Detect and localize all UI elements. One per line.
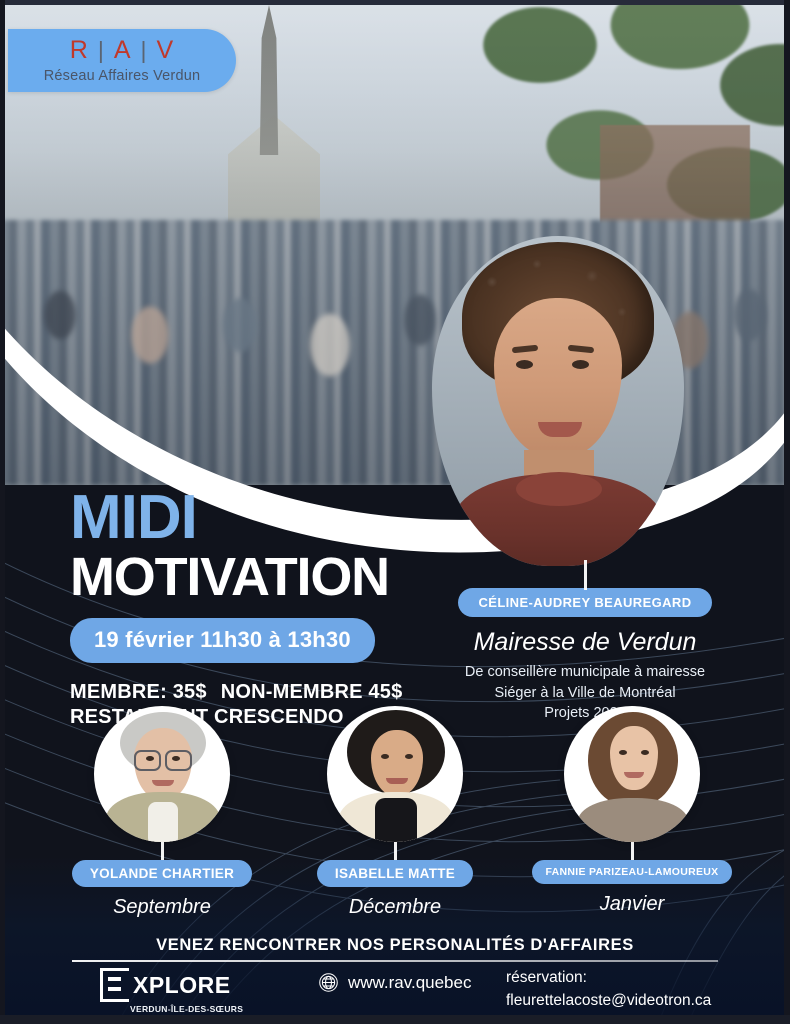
rav-tagline: Réseau Affaires Verdun xyxy=(44,68,201,84)
speaker-photo-isabelle xyxy=(327,706,463,842)
topic-line-1: De conseillère municipale à mairesse xyxy=(420,662,750,683)
featured-speaker-photo xyxy=(432,236,684,566)
featured-speaker-role: Mairesse de Verdun xyxy=(420,628,750,657)
speaker-stem xyxy=(161,842,164,860)
explore-logo[interactable]: XPLORE VERDUN-ÎLE-DES-SŒURS ExploreVerdu… xyxy=(100,968,275,1024)
rav-letter-r: R xyxy=(61,38,98,63)
event-date-pill: 19 février 11h30 à 13h30 xyxy=(70,618,375,663)
website-url: www.rav.quebec xyxy=(348,973,471,993)
featured-speaker-info: CÉLINE-AUDREY BEAUREGARD Mairesse de Ver… xyxy=(420,560,750,724)
rav-letter-a: A xyxy=(105,38,141,63)
title-line-midi: MIDI xyxy=(70,488,402,548)
rav-logo-letters: R | A | V xyxy=(61,38,183,63)
website-link[interactable]: www.rav.quebec xyxy=(318,972,471,993)
rav-separator-2: | xyxy=(141,39,148,62)
title-line-motivation: MOTIVATION xyxy=(70,550,402,604)
portrait-collar xyxy=(516,472,602,506)
speaker-name-isabelle: ISABELLE MATTE xyxy=(317,860,473,887)
reservation-label: réservation: xyxy=(506,966,711,989)
rav-separator-1: | xyxy=(98,39,105,62)
speaker-photo-fannie xyxy=(564,706,700,842)
speaker-inner-top xyxy=(375,798,417,842)
speaker-stem xyxy=(631,842,634,860)
speaker-name-yolande: YOLANDE CHARTIER xyxy=(72,860,252,887)
speaker-mouth xyxy=(386,778,408,784)
poster-canvas: R | A | V Réseau Affaires Verdun MIDI MO… xyxy=(0,0,790,1024)
topic-line-2: Siéger à la Ville de Montréal xyxy=(420,683,750,704)
speaker-card-fannie: FANNIE PARIZEAU-LAMOUREUX Janvier xyxy=(512,706,752,916)
speaker-card-yolande: YOLANDE CHARTIER Septembre xyxy=(42,706,282,919)
footer-divider xyxy=(72,960,718,962)
explore-e-mark-icon xyxy=(100,968,129,1002)
explore-logo-row: XPLORE xyxy=(100,968,275,1002)
speaker-eye-right xyxy=(405,754,413,759)
explore-wordmark: XPLORE xyxy=(133,974,231,997)
speaker-glasses-icon xyxy=(134,750,192,767)
speaker-stem xyxy=(394,842,397,860)
speaker-month-isabelle: Décembre xyxy=(275,896,515,919)
explore-subtitle: VERDUN-ÎLE-DES-SŒURS xyxy=(130,1004,275,1014)
speaker-eye-left xyxy=(619,750,627,755)
speaker-name-fannie: FANNIE PARIZEAU-LAMOUREUX xyxy=(532,860,733,884)
event-title-block: MIDI MOTIVATION 19 février 11h30 à 13h30… xyxy=(70,488,402,731)
explore-url: ExploreVerdunIDS.com xyxy=(100,1018,275,1024)
rav-logo[interactable]: R | A | V Réseau Affaires Verdun xyxy=(8,29,236,92)
reservation-block: réservation: fleurettelacoste@videotron.… xyxy=(506,966,711,1013)
globe-icon xyxy=(318,972,339,993)
speaker-eye-right xyxy=(641,750,649,755)
portrait-eye-left xyxy=(516,360,533,369)
price-non-member: NON-MEMBRE 45$ xyxy=(221,681,403,703)
featured-speaker-stem xyxy=(584,560,587,590)
speaker-eye-left xyxy=(381,754,389,759)
speaker-card-isabelle: ISABELLE MATTE Décembre xyxy=(275,706,515,919)
footer-headline: VENEZ RENCONTRER NOS PERSONALITÉS D'AFFA… xyxy=(0,936,790,955)
speakers-row: YOLANDE CHARTIER Septembre ISABELLE MATT… xyxy=(0,706,790,936)
featured-speaker-portrait xyxy=(432,236,684,566)
price-member: MEMBRE: 35$ xyxy=(70,681,207,703)
featured-speaker-name-pill: CÉLINE-AUDREY BEAUREGARD xyxy=(458,588,711,617)
reservation-email[interactable]: fleurettelacoste@videotron.ca xyxy=(506,989,711,1012)
speaker-month-fannie: Janvier xyxy=(512,893,752,916)
rav-letter-v: V xyxy=(148,38,184,63)
portrait-eye-right xyxy=(572,360,589,369)
speaker-month-yolande: Septembre xyxy=(42,896,282,919)
footer-bar: XPLORE VERDUN-ÎLE-DES-SŒURS ExploreVerdu… xyxy=(0,966,790,1018)
speaker-inner-shirt xyxy=(148,802,178,842)
speaker-clothing xyxy=(578,798,688,842)
speaker-mouth xyxy=(624,772,644,778)
speaker-mouth xyxy=(152,780,174,786)
speaker-photo-yolande xyxy=(94,706,230,842)
